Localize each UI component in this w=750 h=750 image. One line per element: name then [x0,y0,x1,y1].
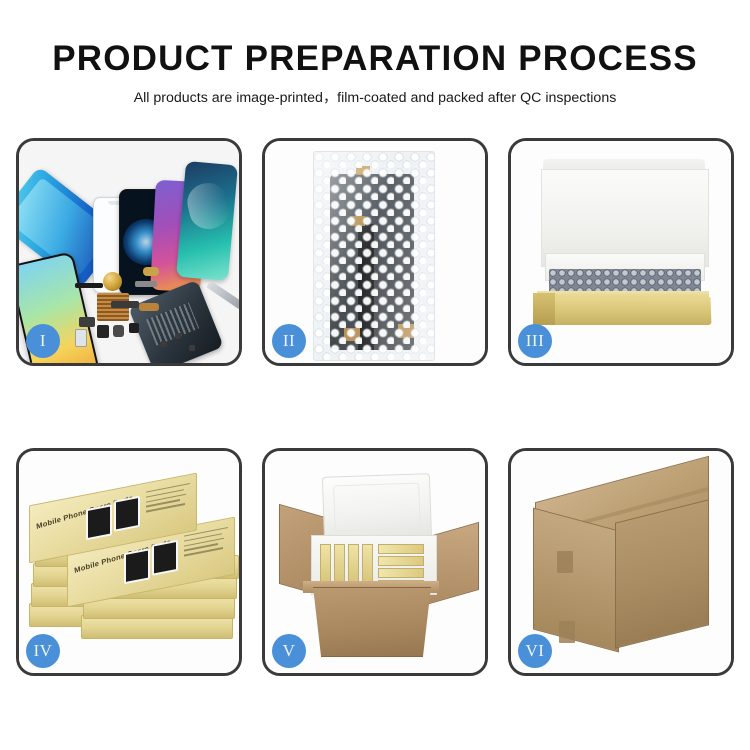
sim-tray-icon [75,329,87,347]
step-panel-1[interactable]: I [16,138,242,366]
teal-gradient-phone-icon [176,161,238,281]
flex-cable-icon [111,301,139,308]
box-spec-lines-icon [184,527,228,568]
yellow-box-front-icon [535,297,712,325]
spare-part-strip-icon [75,283,103,288]
gold-connector-icon [143,267,159,276]
carton-front-icon [305,587,439,657]
step-panel-5[interactable]: V [262,448,488,676]
carton-tape-icon [557,551,573,573]
small-part-dot-icon [161,341,167,347]
gold-flex-icon [139,303,159,311]
spare-part-b-icon [79,317,95,327]
packed-yellow-box-icon [378,544,424,554]
packed-yellow-box-icon [320,544,331,582]
step-panel-3[interactable]: III [508,138,734,366]
spare-part-e-icon [129,323,139,333]
step-badge-2: II [272,324,306,358]
yellow-box-side-icon [533,293,555,325]
step-badge-6: VI [518,634,552,668]
page-header: PRODUCT PREPARATION PROCESS All products… [0,0,750,107]
bubble-wrap-bag-icon [313,151,435,361]
carton-right-face-icon [615,499,709,648]
step-badge-3: III [518,324,552,358]
carton-tape-icon [559,621,575,643]
carton-left-face-icon [533,507,619,652]
vibration-motor-icon [103,272,122,291]
packed-yellow-box-icon [334,544,345,582]
spare-part-d-icon [113,325,124,337]
step-badge-4: IV [26,634,60,668]
small-part-dot-icon [175,333,181,339]
plastic-sheen-overlay [314,152,434,360]
metal-bracket-icon [135,281,157,287]
packed-yellow-box-icon [378,568,424,578]
step-badge-1: I [26,324,60,358]
packed-yellow-box-icon [378,556,424,566]
packed-yellow-box-icon [348,544,359,582]
page-subtitle: All products are image-printed，film-coat… [0,89,750,107]
page-title: PRODUCT PREPARATION PROCESS [0,38,750,80]
step-panel-4[interactable]: Mobile Phone Spare Parts Mobile Phone Sp… [16,448,242,676]
box-spec-lines-icon [146,483,190,524]
process-steps-grid: I II [16,138,734,676]
spare-part-c-icon [97,325,109,338]
step-panel-2[interactable]: II [262,138,488,366]
small-part-dot-icon [189,345,195,351]
box-artwork-phone-icon [114,496,140,532]
box-stack-icon: Mobile Phone Spare Parts Mobile Phone Sp… [23,475,239,659]
step-badge-5: V [272,634,306,668]
box-artwork-phone-icon [86,504,112,540]
packed-yellow-box-icon [362,544,373,582]
step-panel-6[interactable]: VI [508,448,734,676]
box-artwork-phone-icon [152,540,178,576]
box-artwork-phone-icon [124,548,150,584]
